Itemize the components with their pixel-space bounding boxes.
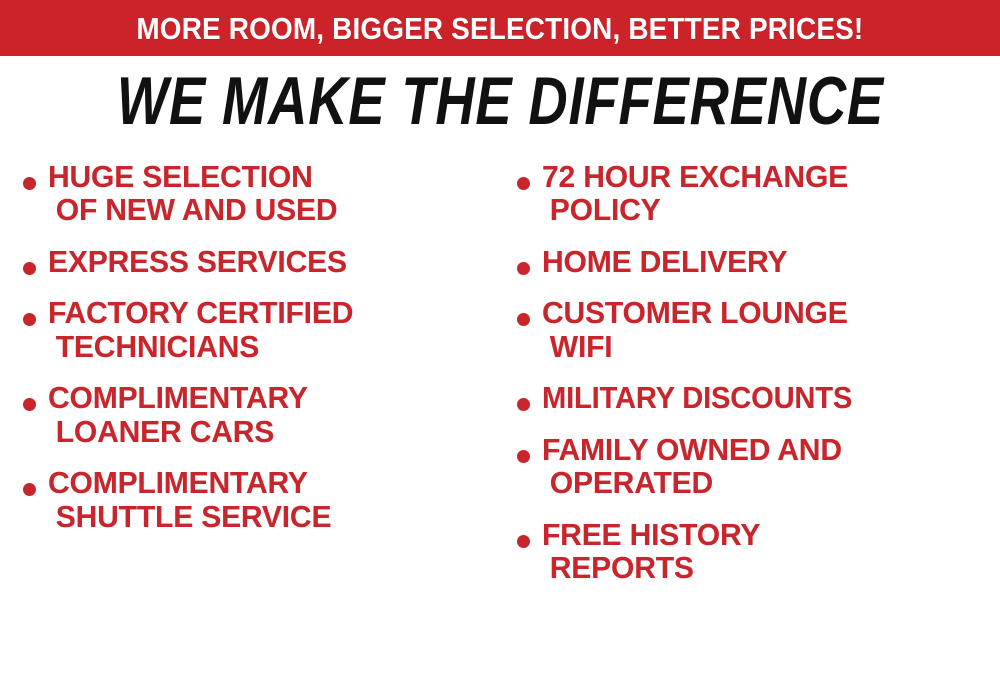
feature-line-2: WIFI (542, 330, 986, 363)
feature-line-1: FACTORY CERTIFIED (48, 295, 353, 330)
feature-list-item: HOME DELIVERY (508, 245, 1000, 278)
bullet-dot-icon (517, 313, 530, 326)
feature-list-item: FREE HISTORYREPORTS (508, 518, 1000, 585)
feature-list-item-label: EXPRESS SERVICES (48, 245, 486, 278)
feature-list-item-label: FACTORY CERTIFIEDTECHNICIANS (48, 296, 486, 363)
feature-list-item: CUSTOMER LOUNGEWIFI (508, 296, 1000, 363)
feature-line-1: MILITARY DISCOUNTS (542, 380, 852, 415)
feature-line-1: FAMILY OWNED AND (542, 432, 842, 467)
feature-line-2: POLICY (542, 193, 986, 226)
feature-line-2: SHUTTLE SERVICE (48, 500, 486, 533)
feature-list-item: MILITARY DISCOUNTS (508, 381, 1000, 414)
feature-list-item-label: HUGE SELECTIONOF NEW AND USED (48, 160, 486, 227)
top-banner-text: MORE ROOM, BIGGER SELECTION, BETTER PRIC… (136, 13, 863, 44)
feature-line-1: EXPRESS SERVICES (48, 244, 347, 279)
feature-list-item: FACTORY CERTIFIEDTECHNICIANS (14, 296, 500, 363)
feature-list-item-label: FREE HISTORYREPORTS (542, 518, 986, 585)
feature-line-2: REPORTS (542, 551, 986, 584)
feature-line-2: LOANER CARS (48, 415, 486, 448)
feature-list-item-label: MILITARY DISCOUNTS (542, 381, 973, 414)
bullet-dot-icon (517, 450, 530, 463)
feature-line-2: OPERATED (542, 466, 986, 499)
bullet-dot-icon (517, 262, 530, 275)
bullet-dot-icon (23, 313, 36, 326)
feature-list-item: COMPLIMENTARYLOANER CARS (14, 381, 500, 448)
feature-list-item-label: CUSTOMER LOUNGEWIFI (542, 296, 986, 363)
bullet-dot-icon (23, 177, 36, 190)
feature-line-2: OF NEW AND USED (48, 193, 486, 226)
feature-line-1: COMPLIMENTARY (48, 465, 308, 500)
headline-container: WE MAKE THE DIFFERENCE (0, 62, 1000, 140)
bullet-dot-icon (23, 483, 36, 496)
feature-line-1: 72 HOUR EXCHANGE (542, 159, 848, 194)
bullet-dot-icon (23, 262, 36, 275)
feature-list-item: 72 HOUR EXCHANGEPOLICY (508, 160, 1000, 227)
feature-list-item: FAMILY OWNED ANDOPERATED (508, 433, 1000, 500)
feature-list-item-label: COMPLIMENTARYLOANER CARS (48, 381, 486, 448)
feature-line-1: HOME DELIVERY (542, 244, 787, 279)
feature-column-right: 72 HOUR EXCHANGEPOLICYHOME DELIVERYCUSTO… (508, 160, 1000, 694)
feature-list-item-label: HOME DELIVERY (542, 245, 986, 278)
bullet-dot-icon (23, 398, 36, 411)
feature-list-item-label: COMPLIMENTARYSHUTTLE SERVICE (48, 466, 486, 533)
feature-list-item: COMPLIMENTARYSHUTTLE SERVICE (14, 466, 500, 533)
bullet-dot-icon (517, 535, 530, 548)
feature-line-1: CUSTOMER LOUNGE (542, 295, 848, 330)
feature-list-item: HUGE SELECTIONOF NEW AND USED (14, 160, 500, 227)
page-title: WE MAKE THE DIFFERENCE (116, 67, 883, 135)
feature-line-1: COMPLIMENTARY (48, 380, 308, 415)
bullet-dot-icon (517, 398, 530, 411)
feature-list-item-label: 72 HOUR EXCHANGEPOLICY (542, 160, 986, 227)
feature-line-2: TECHNICIANS (48, 330, 486, 363)
feature-list-item: EXPRESS SERVICES (14, 245, 500, 278)
feature-columns: HUGE SELECTIONOF NEW AND USEDEXPRESS SER… (0, 160, 1000, 694)
top-banner: MORE ROOM, BIGGER SELECTION, BETTER PRIC… (0, 0, 1000, 56)
poster-root: MORE ROOM, BIGGER SELECTION, BETTER PRIC… (0, 0, 1000, 694)
feature-list-item-label: FAMILY OWNED ANDOPERATED (542, 433, 986, 500)
feature-column-left: HUGE SELECTIONOF NEW AND USEDEXPRESS SER… (14, 160, 500, 694)
feature-line-1: HUGE SELECTION (48, 159, 313, 194)
feature-line-1: FREE HISTORY (542, 517, 760, 552)
bullet-dot-icon (517, 177, 530, 190)
